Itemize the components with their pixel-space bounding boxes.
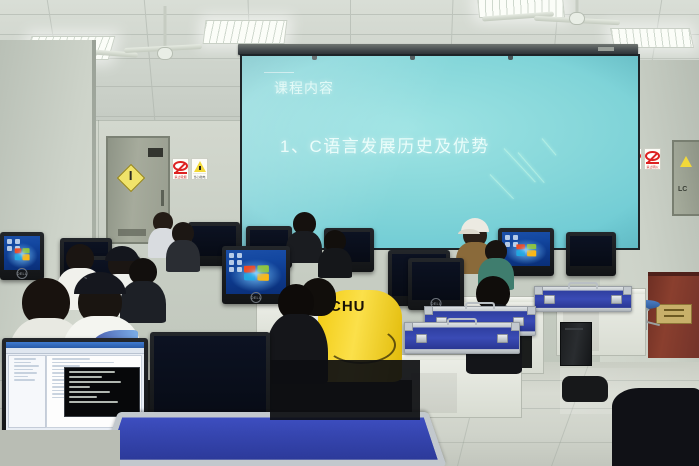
cap-brim (458, 229, 480, 234)
equipment-case (534, 286, 632, 312)
equipment-case-foreground (99, 412, 446, 466)
screen-roller-tab (598, 47, 614, 51)
ceiling-fan (100, 6, 230, 64)
student (612, 388, 699, 466)
slide-underline (264, 72, 294, 73)
sign-caption: 当心触电 (193, 175, 205, 179)
no-fire-icon (645, 151, 660, 161)
no-smoking-icon (173, 161, 188, 171)
electric-shock-icon (194, 161, 206, 172)
backpack (562, 376, 608, 402)
equipment-case (404, 322, 520, 354)
hoodie-graphic (326, 326, 396, 364)
cabinet-handle[interactable] (161, 190, 164, 206)
monitor: DELL (0, 232, 44, 280)
dell-logo: DELL (251, 292, 262, 303)
warning-triangle-icon (680, 156, 692, 167)
desktop-tower-pc (560, 322, 592, 366)
slide-bullet-1: 1、C语言发展历史及优势 (280, 132, 490, 157)
ide-toolbar (6, 348, 144, 354)
sign-caption: 禁止明火 (646, 165, 658, 169)
foreground-shadow (270, 360, 420, 420)
student (286, 212, 322, 260)
cap-logo: ~ (84, 276, 87, 282)
ceiling-fan (512, 0, 642, 46)
slide-title: 课程内容 (274, 78, 334, 98)
no-fire-sign: 禁止明火 (644, 148, 661, 170)
electric-hazard-icon (117, 164, 145, 192)
monitor (566, 232, 616, 276)
safety-signs-left: 禁止吸烟 当心触电 (172, 158, 208, 180)
right-wall-cabinet[interactable]: LC (672, 140, 699, 216)
no-smoking-sign: 禁止吸烟 (172, 158, 189, 180)
sign-band (193, 173, 206, 175)
cabinet-label-text: LC (678, 186, 687, 193)
cabinet-vent (148, 148, 163, 157)
classroom-photo: 禁止吸烟 当心触电 禁止烟火 禁止明火 LC (0, 0, 699, 466)
podium-plate (656, 304, 692, 324)
wooden-podium (648, 272, 699, 358)
monitor: DELL (408, 258, 464, 310)
student (166, 222, 200, 270)
electric-warning-sign: 当心触电 (191, 158, 208, 180)
foreground-shadow (0, 430, 120, 466)
sign-caption: 禁止吸烟 (174, 175, 186, 179)
ide-project-pane[interactable] (8, 355, 46, 428)
console-output-window[interactable] (64, 367, 141, 417)
cabinet-label (118, 229, 146, 236)
dark-cap (74, 272, 126, 294)
